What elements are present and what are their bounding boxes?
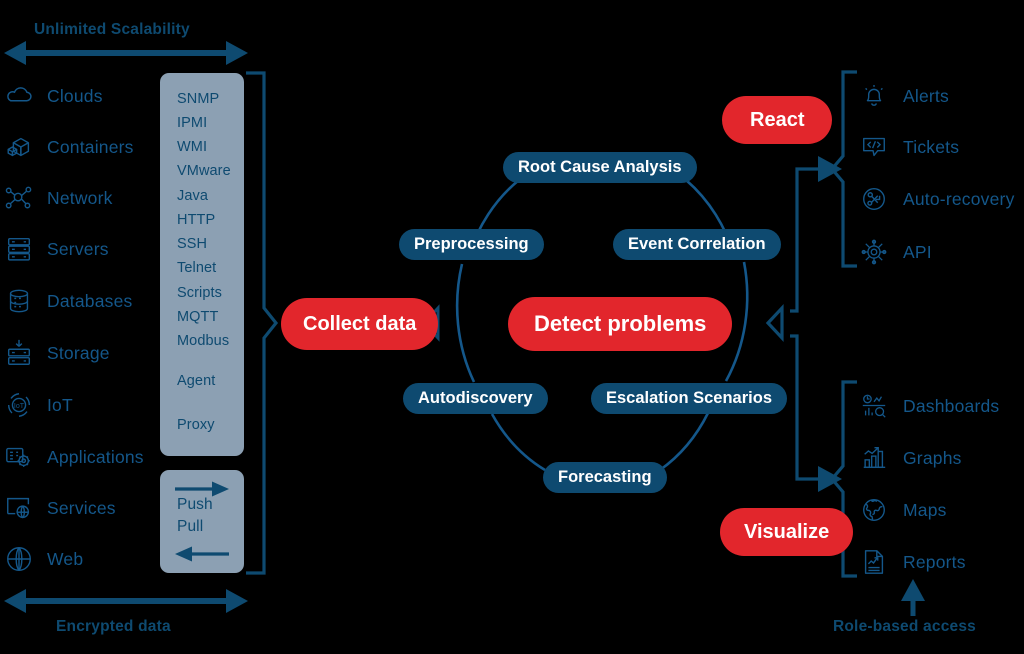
transport-panel: Push Pull — [160, 470, 244, 573]
protocol-panel: SNMP IPMI WMI VMware Java HTTP SSH Telne… — [160, 73, 244, 456]
source-item-containers[interactable]: Containers — [4, 129, 134, 165]
services-icon — [4, 493, 34, 523]
network-icon — [4, 183, 34, 213]
pull-label: Pull — [177, 518, 203, 536]
source-item-storage[interactable]: Storage — [4, 335, 110, 371]
visualize-output-label: Reports — [903, 552, 966, 573]
react-output-auto-recovery[interactable]: Auto-recovery — [860, 182, 1015, 216]
source-item-web[interactable]: Web — [4, 541, 83, 577]
visualize-output-label: Dashboards — [903, 396, 999, 417]
react-output-label: API — [903, 242, 932, 263]
react-output-label: Auto-recovery — [903, 189, 1015, 210]
web-icon — [4, 544, 34, 574]
containers-icon — [4, 132, 34, 162]
protocol-item: IPMI — [177, 115, 207, 131]
source-item-servers[interactable]: Servers — [4, 231, 109, 267]
cycle-node-event-correlation[interactable]: Event Correlation — [613, 229, 781, 260]
code-ticket-icon — [860, 133, 888, 161]
source-item-network[interactable]: Network — [4, 180, 113, 216]
source-label: Databases — [47, 291, 132, 312]
source-label: Storage — [47, 343, 110, 364]
react-output-label: Tickets — [903, 137, 959, 158]
source-label: Network — [47, 188, 113, 209]
output-trunk — [768, 169, 826, 479]
cloud-icon — [4, 81, 34, 111]
report-doc-icon — [860, 548, 888, 576]
react-bracket — [832, 72, 857, 266]
diagram-canvas: Unlimited Scalability Encrypted data Rol… — [0, 0, 1024, 654]
protocol-item: WMI — [177, 139, 207, 155]
arrow-right-icon — [174, 481, 230, 497]
react-output-api[interactable]: API — [860, 235, 932, 269]
cycle-node-root-cause-analysis[interactable]: Root Cause Analysis — [503, 152, 697, 183]
visualize-output-reports[interactable]: Reports — [860, 545, 966, 579]
svg-text:IoT: IoT — [14, 403, 25, 410]
source-item-iot[interactable]: IoT IoT — [4, 387, 73, 423]
visualize-output-graphs[interactable]: Graphs — [860, 441, 962, 475]
protocol-item: VMware — [177, 163, 231, 179]
storage-icon — [4, 338, 34, 368]
source-item-databases[interactable]: Databases — [4, 283, 132, 319]
protocol-item: Telnet — [177, 260, 216, 276]
protocol-item: Modbus — [177, 333, 229, 349]
encrypted-arrow — [4, 589, 248, 613]
role-based-access-label: Role-based access — [833, 618, 976, 636]
protocol-item: HTTP — [177, 212, 215, 228]
source-item-services[interactable]: Services — [4, 490, 116, 526]
stage-detect-problems[interactable]: Detect problems — [508, 297, 732, 351]
applications-icon — [4, 442, 34, 472]
protocol-item-proxy: Proxy — [177, 417, 215, 433]
protocol-item: SNMP — [177, 91, 219, 107]
visualize-output-label: Maps — [903, 500, 947, 521]
source-label: Containers — [47, 137, 134, 158]
source-label: Applications — [47, 447, 144, 468]
globe-map-icon — [860, 496, 888, 524]
api-gear-icon — [860, 238, 888, 266]
source-label: Clouds — [47, 86, 103, 107]
servers-icon — [4, 234, 34, 264]
output-trunk-arrowheads — [818, 156, 842, 492]
cycle-node-escalation-scenarios[interactable]: Escalation Scenarios — [591, 383, 787, 414]
source-label: Servers — [47, 239, 109, 260]
visualize-output-dashboards[interactable]: Dashboards — [860, 389, 999, 423]
collect-bracket-left — [246, 73, 276, 573]
arrow-left-icon — [174, 546, 230, 562]
dashboard-icon — [860, 392, 888, 420]
source-item-applications[interactable]: Applications — [4, 439, 144, 475]
protocol-item: Java — [177, 188, 208, 204]
source-label: IoT — [47, 395, 73, 416]
role-access-arrow — [901, 579, 925, 616]
bell-icon — [860, 82, 888, 110]
stage-react[interactable]: React — [722, 96, 832, 144]
scalability-arrow — [4, 41, 248, 65]
cycle-node-preprocessing[interactable]: Preprocessing — [399, 229, 544, 260]
database-icon — [4, 286, 34, 316]
cycle-node-autodiscovery[interactable]: Autodiscovery — [403, 383, 548, 414]
cycle-node-forecasting[interactable]: Forecasting — [543, 462, 667, 493]
stage-visualize[interactable]: Visualize — [720, 508, 853, 556]
auto-recovery-icon — [860, 185, 888, 213]
visualize-output-maps[interactable]: Maps — [860, 493, 947, 527]
stage-collect-data[interactable]: Collect data — [281, 298, 438, 350]
source-item-clouds[interactable]: Clouds — [4, 78, 103, 114]
push-label: Push — [177, 496, 213, 514]
protocol-item-agent: Agent — [177, 373, 215, 389]
protocol-item: Scripts — [177, 285, 222, 301]
source-label: Web — [47, 549, 83, 570]
react-output-alerts[interactable]: Alerts — [860, 79, 949, 113]
protocol-item: SSH — [177, 236, 207, 252]
iot-icon: IoT — [4, 390, 34, 420]
react-output-label: Alerts — [903, 86, 949, 107]
protocol-item: MQTT — [177, 309, 218, 325]
encrypted-label: Encrypted data — [56, 618, 171, 636]
bar-chart-icon — [860, 444, 888, 472]
react-output-tickets[interactable]: Tickets — [860, 130, 959, 164]
source-label: Services — [47, 498, 116, 519]
scalability-label: Unlimited Scalability — [34, 21, 190, 39]
visualize-output-label: Graphs — [903, 448, 962, 469]
